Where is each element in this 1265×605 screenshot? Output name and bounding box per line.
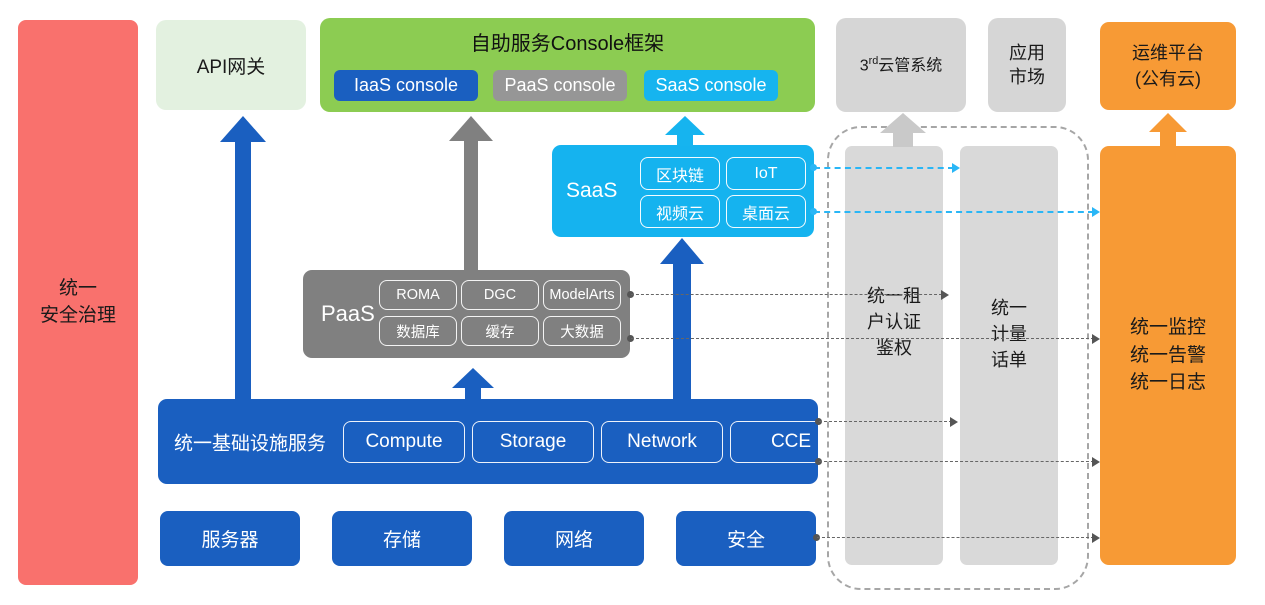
paas-console-label: PaaS console xyxy=(504,75,615,96)
third-party-prefix: 3 xyxy=(860,57,869,74)
connector-paas-to-ops xyxy=(631,338,1094,339)
saas-panel-label: SaaS xyxy=(566,179,617,203)
arrow-shared-to-third-party xyxy=(880,113,926,147)
infra-item-compute-label: Compute xyxy=(365,431,442,453)
arrow-ops-services-to-ops-platform xyxy=(1149,113,1187,147)
ops-platform-line-2: (公有云) xyxy=(1135,66,1201,92)
hardware-item-storage-label: 存储 xyxy=(383,525,421,552)
paas-item-dgc-label: DGC xyxy=(484,287,516,303)
ops-platform-line-1: 运维平台 xyxy=(1132,40,1204,66)
third-party-suffix: 云管系统 xyxy=(878,57,942,74)
paas-console-chip[interactable]: PaaS console xyxy=(493,70,627,101)
saas-panel: SaaS 区块链 IoT 视频云 桌面云 xyxy=(552,145,814,237)
connector-infra-to-ops xyxy=(819,461,1094,462)
security-line-1: 统一 xyxy=(59,276,97,303)
connector-saas-to-ops xyxy=(814,211,1094,213)
connector-arrowhead-hardware xyxy=(1092,533,1100,543)
paas-item-modelarts[interactable]: ModelArts xyxy=(543,280,621,310)
connector-arrowhead-infra-2 xyxy=(1092,457,1100,467)
ops-services-box: 统一监控 统一告警 统一日志 xyxy=(1100,146,1236,565)
metering-line-2: 计量 xyxy=(960,322,1058,347)
saas-item-desktop-cloud-label: 桌面云 xyxy=(742,200,790,224)
hardware-item-network-label: 网络 xyxy=(555,525,593,552)
console-frame-title: 自助服务Console框架 xyxy=(320,27,815,56)
third-party-cloud-mgmt-box[interactable]: 3rd云管系统 xyxy=(836,18,966,112)
paas-item-roma-label: ROMA xyxy=(396,287,440,303)
saas-item-video-cloud-label: 视频云 xyxy=(656,200,704,224)
unified-tenant-auth-column: 统一租 户认证 鉴权 xyxy=(845,146,943,565)
self-service-console-frame: 自助服务Console框架 IaaS console PaaS console … xyxy=(320,18,815,112)
paas-item-database[interactable]: 数据库 xyxy=(379,316,457,346)
hardware-item-server-label: 服务器 xyxy=(201,525,258,552)
infra-item-cce-label: CCE xyxy=(771,431,811,453)
saas-item-blockchain[interactable]: 区块链 xyxy=(640,157,720,190)
infra-item-network-label: Network xyxy=(627,431,697,453)
metering-line-1: 统一 xyxy=(960,296,1058,321)
iaas-console-label: IaaS console xyxy=(354,75,458,96)
app-market-box[interactable]: 应用 市场 xyxy=(988,18,1066,112)
connector-hardware-to-ops xyxy=(817,537,1094,538)
connector-arrowhead-saas-1 xyxy=(952,163,960,173)
saas-console-label: SaaS console xyxy=(655,75,766,96)
api-gateway-box[interactable]: API网关 xyxy=(156,20,306,110)
auth-line-2: 户认证 xyxy=(845,310,943,335)
ops-services-line-2: 统一告警 xyxy=(1130,342,1206,370)
paas-panel: PaaS ROMA DGC ModelArts 数据库 缓存 大数据 xyxy=(303,270,630,358)
unified-security-governance-panel: 统一 安全治理 xyxy=(18,20,138,585)
infra-item-network[interactable]: Network xyxy=(601,421,723,463)
app-market-line-2: 市场 xyxy=(1009,65,1045,89)
ops-platform-box[interactable]: 运维平台 (公有云) xyxy=(1100,22,1236,110)
infra-item-compute[interactable]: Compute xyxy=(343,421,465,463)
paas-item-bigdata[interactable]: 大数据 xyxy=(543,316,621,346)
paas-item-dgc[interactable]: DGC xyxy=(461,280,539,310)
infra-item-storage-label: Storage xyxy=(500,431,567,453)
connector-paas-to-auth xyxy=(631,294,942,295)
auth-line-1: 统一租 xyxy=(845,284,943,309)
api-gateway-label: API网关 xyxy=(197,52,266,79)
paas-item-cache[interactable]: 缓存 xyxy=(461,316,539,346)
connector-infra-to-metering xyxy=(819,421,952,422)
security-line-2: 安全治理 xyxy=(40,303,116,330)
saas-item-iot[interactable]: IoT xyxy=(726,157,806,190)
architecture-diagram: 统一 安全治理 API网关 自助服务Console框架 IaaS console… xyxy=(0,0,1265,605)
connector-arrowhead-paas-1 xyxy=(941,290,949,300)
paas-item-cache-label: 缓存 xyxy=(486,321,515,342)
paas-item-roma[interactable]: ROMA xyxy=(379,280,457,310)
third-party-cloud-mgmt-label: 3rd云管系统 xyxy=(860,54,943,77)
iaas-console-chip[interactable]: IaaS console xyxy=(334,70,478,101)
connector-arrowhead-infra-1 xyxy=(950,417,958,427)
saas-console-chip[interactable]: SaaS console xyxy=(644,70,778,101)
hardware-item-network[interactable]: 网络 xyxy=(504,511,644,566)
arrow-paas-to-console-frame xyxy=(449,116,493,272)
auth-line-3: 鉴权 xyxy=(845,336,943,361)
unified-metering-column: 统一 计量 话单 xyxy=(960,146,1058,565)
paas-item-database-label: 数据库 xyxy=(396,321,440,342)
arrow-infra-to-api-gateway xyxy=(220,116,266,400)
hardware-item-security-label: 安全 xyxy=(727,525,765,552)
hardware-item-server[interactable]: 服务器 xyxy=(160,511,300,566)
third-party-superscript: rd xyxy=(869,55,879,67)
arrow-infra-to-saas xyxy=(660,238,704,402)
hardware-item-storage[interactable]: 存储 xyxy=(332,511,472,566)
paas-item-modelarts-label: ModelArts xyxy=(549,287,614,303)
saas-item-iot-label: IoT xyxy=(754,165,777,183)
ops-services-line-3: 统一日志 xyxy=(1130,369,1206,397)
connector-arrowhead-paas-2 xyxy=(1092,334,1100,344)
saas-item-blockchain-label: 区块链 xyxy=(656,162,704,186)
infrastructure-label: 统一基础设施服务 xyxy=(174,428,326,455)
metering-line-3: 话单 xyxy=(960,348,1058,373)
connector-arrowhead-saas-2 xyxy=(1092,207,1100,217)
paas-item-bigdata-label: 大数据 xyxy=(560,321,604,342)
arrow-infra-to-paas xyxy=(452,368,494,402)
arrow-saas-to-saas-console xyxy=(665,116,705,146)
infra-item-storage[interactable]: Storage xyxy=(472,421,594,463)
app-market-line-1: 应用 xyxy=(1009,41,1045,65)
hardware-item-security[interactable]: 安全 xyxy=(676,511,816,566)
connector-saas-to-metering xyxy=(814,167,954,169)
paas-panel-label: PaaS xyxy=(321,301,375,327)
ops-services-line-1: 统一监控 xyxy=(1130,314,1206,342)
saas-item-video-cloud[interactable]: 视频云 xyxy=(640,195,720,228)
saas-item-desktop-cloud[interactable]: 桌面云 xyxy=(726,195,806,228)
unified-infrastructure-panel: 统一基础设施服务 Compute Storage Network CCE xyxy=(158,399,818,484)
